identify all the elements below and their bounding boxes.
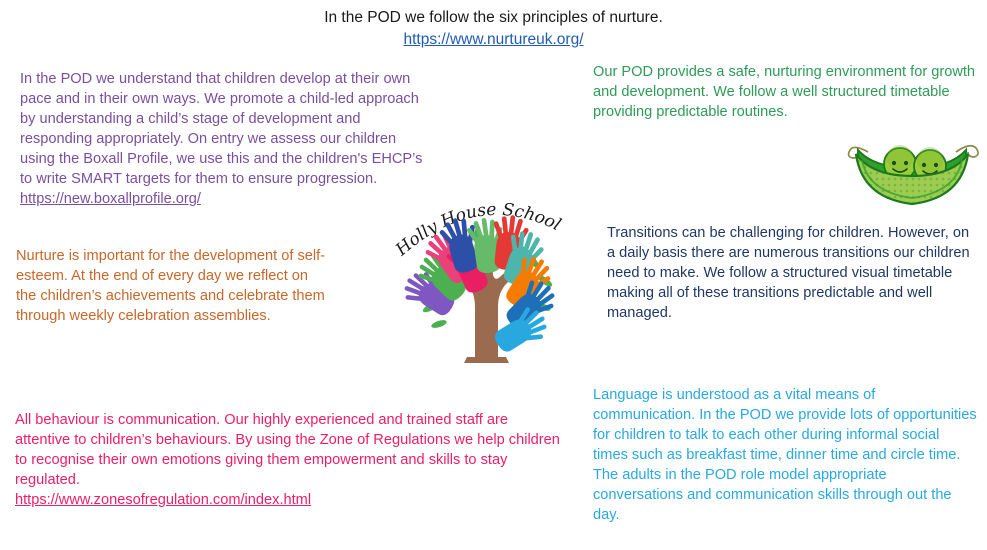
- header: In the POD we follow the six principles …: [0, 8, 987, 49]
- transitions-paragraph: Transitions can be challenging for child…: [607, 224, 979, 324]
- understanding-text: In the POD we understand that children d…: [20, 71, 422, 187]
- text-block-language-communication: Language is understood as a vital means …: [593, 386, 978, 526]
- page-title: In the POD we follow the six principles …: [0, 8, 987, 29]
- nurture-paragraph: Nurture is important for the development…: [16, 247, 328, 327]
- boxall-profile-link[interactable]: https://new.boxallprofile.org/: [20, 191, 201, 207]
- text-block-self-esteem: Nurture is important for the development…: [16, 247, 328, 327]
- slide-canvas: In the POD we follow the six principles …: [0, 0, 987, 550]
- safe-paragraph: Our POD provides a safe, nurturing envir…: [593, 63, 978, 123]
- behaviour-paragraph: All behaviour is communication. Our high…: [15, 411, 560, 491]
- text-block-understanding-development: In the POD we understand that children d…: [20, 70, 432, 210]
- holly-house-school-logo: Holly House School: [383, 185, 588, 363]
- language-paragraph: Language is understood as a vital means …: [593, 386, 978, 526]
- peas-in-a-pod-illustration: [838, 128, 986, 216]
- nurtureuk-link[interactable]: https://www.nurtureuk.org/: [403, 31, 583, 49]
- text-block-behaviour-communication: All behaviour is communication. Our high…: [15, 411, 560, 511]
- understanding-paragraph: In the POD we understand that children d…: [20, 70, 432, 210]
- text-block-transitions: Transitions can be challenging for child…: [607, 224, 979, 324]
- zones-of-regulation-link[interactable]: https://www.zonesofregulation.com/index.…: [15, 491, 311, 511]
- text-block-safe-environment: Our POD provides a safe, nurturing envir…: [593, 63, 978, 123]
